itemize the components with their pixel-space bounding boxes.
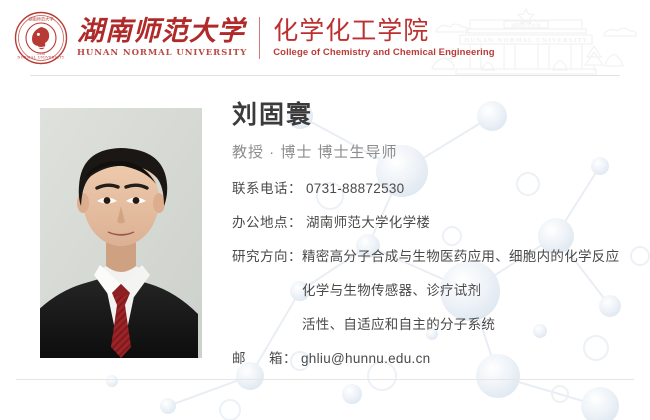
brand-logo-row[interactable]: 湖南师范大学 NORMAL UNIVERSITY 1938 湖南师范大学 HUN… [14,11,495,65]
research-line: 化学与生物传感器、诊疗试剂 [302,281,619,301]
university-name-en: HUNAN NORMAL UNIVERSITY [77,48,247,59]
office-row: 办公地点： 湖南师范大学化学楼 [232,213,642,233]
phone-label: 联系电话： [232,179,302,199]
phone-value: 0731-88872530 [306,179,405,199]
svg-text:NORMAL UNIVERSITY: NORMAL UNIVERSITY [17,56,65,60]
research-label: 研究方向： [232,247,302,267]
svg-text:湖南师范大学: 湖南师范大学 [28,16,53,23]
research-row: 研究方向： 精密高分子合成与生物医药应用、细胞内的化学反应 化学与生物传感器、诊… [232,247,642,335]
email-value[interactable]: ghliu@hunnu.edu.cn [301,349,430,369]
profile-page: 湖南师范大学 HUNAN NORMAL UNIVERSITY 湖南师范大学 NO… [0,0,650,420]
office-label: 办公地点： [232,213,302,233]
svg-text:1938: 1938 [37,52,45,56]
professor-title: 教授 · 博士 博士生导师 [232,143,642,163]
office-value: 湖南师范大学化学楼 [306,213,430,233]
svg-text:湖南师范大学: 湖南师范大学 [511,23,541,30]
portrait-photo [40,108,202,358]
site-header: 湖南师范大学 HUNAN NORMAL UNIVERSITY 湖南师范大学 NO… [0,0,650,76]
research-line: 精密高分子合成与生物医药应用、细胞内的化学反应 [302,247,619,267]
email-label: 邮箱： [232,349,297,369]
college-name-block: 化学化工学院 College of Chemistry and Chemical… [273,12,494,64]
college-name-cn: 化学化工学院 [273,17,494,45]
brand-divider [259,17,260,59]
header-divider-line [30,75,620,76]
university-name-cn: 湖南师范大学 [77,17,247,47]
university-seal-icon: 湖南师范大学 NORMAL UNIVERSITY 1938 [14,11,68,65]
phone-row: 联系电话： 0731-88872530 [232,179,642,199]
college-name-en: College of Chemistry and Chemical Engine… [273,47,494,59]
research-lines: 精密高分子合成与生物医药应用、细胞内的化学反应 化学与生物传感器、诊疗试剂 活性… [302,247,619,335]
footer-divider-line [16,379,634,380]
professor-name: 刘固寰 [232,100,642,130]
university-name-block: 湖南师范大学 HUNAN NORMAL UNIVERSITY [77,12,247,64]
email-row: 邮箱： ghliu@hunnu.edu.cn [232,349,642,369]
profile-info: 刘固寰 教授 · 博士 博士生导师 联系电话： 0731-88872530 办公… [232,100,642,369]
research-line: 活性、自适应和自主的分子系统 [302,315,619,335]
